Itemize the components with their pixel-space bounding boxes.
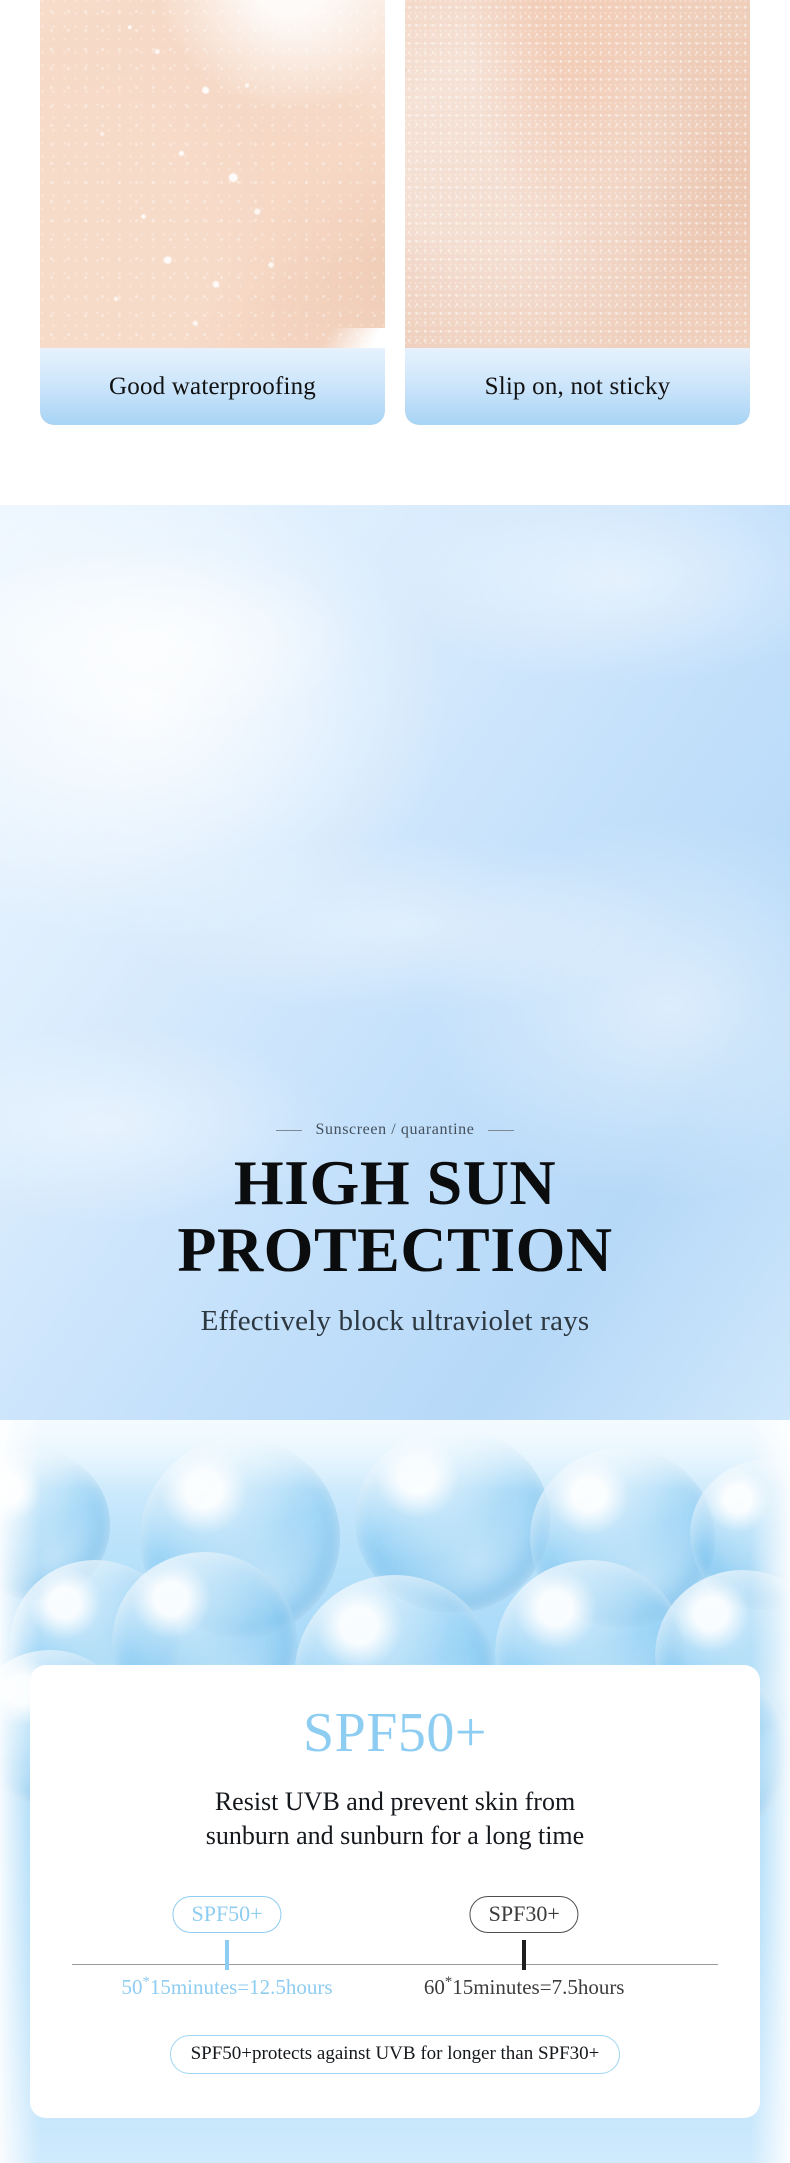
swatch-caption: Good waterproofing [40,348,385,425]
comparison-calc-spf50: 50*15minutes=12.5hours [121,1974,332,2000]
card-desc-line-1: Resist UVB and prevent skin from [215,1787,575,1816]
gel-bubbles-section: SPF50+ Resist UVB and prevent skin from … [0,1420,790,2163]
spf-comparison-card: SPF50+ Resist UVB and prevent skin from … [30,1665,760,2118]
cloud-decoration [380,505,790,685]
calc-suffix: 15minutes=12.5hours [150,1975,333,1999]
page-title-line-2: PROTECTION [177,1214,612,1285]
spf-comparison-chart: SPF50+ 50*15minutes=12.5hours SPF30+ 60*… [72,1896,718,2031]
comparison-tick-spf50 [225,1940,229,1970]
calc-prefix: 50 [121,1975,142,1999]
calc-suffix: 15minutes=7.5hours [452,1975,624,1999]
section-eyebrow: Sunscreen / quarantine [0,1121,790,1139]
sun-protection-section: Sunscreen / quarantine HIGH SUN PROTECTI… [0,505,790,1420]
swatch-card-waterproof: Good waterproofing [40,0,385,425]
swatch-section: Good waterproofing Slip on, not sticky [0,0,790,505]
calc-prefix: 60 [424,1975,445,1999]
cloud-decoration [0,545,360,735]
cloud-decoration [120,835,680,1015]
eyebrow-rule-right [488,1130,514,1131]
comparison-pill-spf30: SPF30+ [470,1896,579,1933]
comparison-footnote: SPF50+protects against UVB for longer th… [170,2035,621,2074]
swatch-card-nonsticky: Slip on, not sticky [405,0,750,425]
comparison-axis [72,1964,718,1966]
page-title: HIGH SUN PROTECTION [0,1150,790,1283]
eyebrow-rule-left [276,1130,302,1131]
eyebrow-label: Sunscreen / quarantine [316,1121,475,1139]
swatch-caption: Slip on, not sticky [405,348,750,425]
page-title-line-1: HIGH SUN [234,1147,556,1218]
comparison-tick-spf30 [522,1940,526,1970]
comparison-calc-spf30: 60*15minutes=7.5hours [424,1974,625,2000]
card-desc-line-2: sunburn and sunburn for a long time [206,1821,584,1850]
card-spf-title: SPF50+ [30,1705,760,1761]
comparison-pill-spf50: SPF50+ [172,1896,281,1933]
page-subtitle: Effectively block ultraviolet rays [0,1305,790,1338]
swatch-row: Good waterproofing Slip on, not sticky [40,0,750,425]
bubbles-top-fade [0,1420,790,1490]
card-description: Resist UVB and prevent skin from sunburn… [30,1785,760,1854]
